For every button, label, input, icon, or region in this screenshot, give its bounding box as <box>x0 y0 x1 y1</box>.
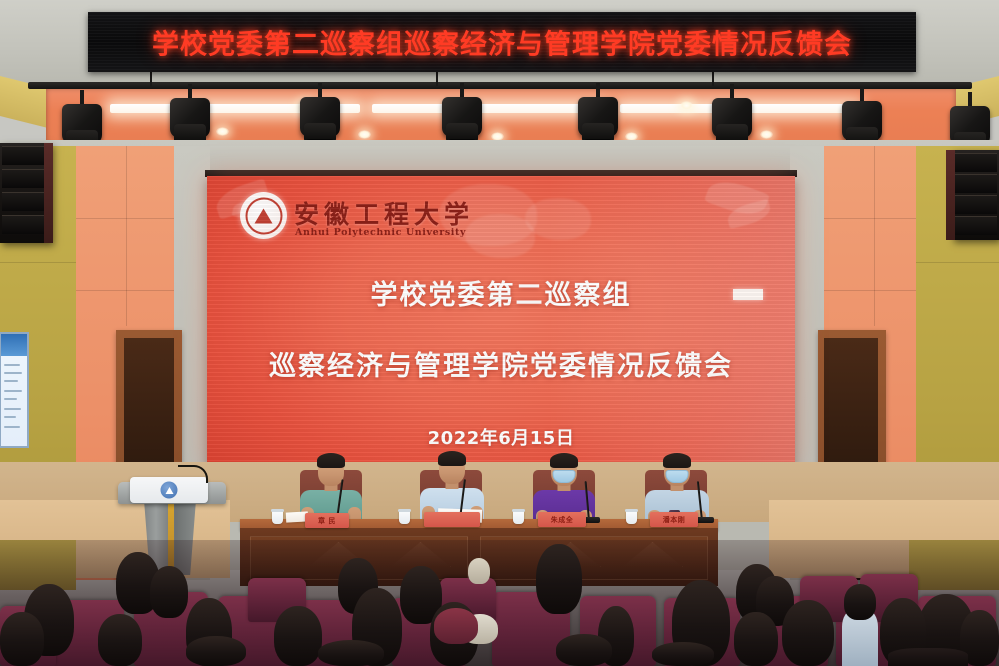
led-banner-text: 学校党委第二巡察组巡察经济与管理学院党委情况反馈会 <box>88 23 916 62</box>
panel-seam <box>126 146 127 326</box>
screen-title-line2: 巡察经济与管理学院党委情况反馈会 <box>207 344 795 383</box>
water-cup[interactable] <box>626 511 637 524</box>
cup-lid <box>625 509 638 512</box>
audience-head-foreground <box>186 636 246 666</box>
speaker-driver-cell <box>954 195 997 214</box>
panel-seam <box>916 262 999 263</box>
speaker-driver-cell <box>954 216 997 235</box>
notice-text-line <box>4 380 18 382</box>
audience-head-light <box>468 558 490 584</box>
speaker-mount-bracket <box>44 143 53 243</box>
audience-head-foreground <box>318 640 384 666</box>
panel-seam <box>824 290 916 291</box>
recessed-downlight <box>680 101 693 110</box>
screen-glitch-block <box>733 289 763 300</box>
university-emblem-icon <box>240 192 287 239</box>
screen-logo-chinese: 安徽工程大学 <box>294 195 474 231</box>
notice-text-line <box>4 408 21 410</box>
conference-hall-photo: 安徽工程大学 Anhui Polytechnic University 学校党委… <box>0 0 999 666</box>
notice-text-line <box>4 426 20 428</box>
audience-head <box>0 612 44 666</box>
podium-crest-icon <box>161 482 178 499</box>
notice-text-line <box>4 416 16 418</box>
speaker-driver-cell <box>2 169 50 188</box>
panelist-3-face-mask <box>553 470 576 483</box>
notice-text-line <box>4 390 22 392</box>
panel-seam <box>76 290 174 291</box>
nameplate-panelist-4: 潘本刚 <box>650 512 698 527</box>
water-cup[interactable] <box>513 511 524 524</box>
speaker-driver-cell <box>954 174 997 193</box>
audience-head <box>536 544 582 614</box>
speaker-driver-cell <box>2 192 50 211</box>
audience-head <box>150 566 188 618</box>
audience-head-foreground <box>652 642 714 666</box>
audience-head <box>844 584 876 620</box>
notice-text-line <box>4 372 22 374</box>
audience-head <box>734 612 778 666</box>
peony-watermark <box>525 198 591 240</box>
cup-lid <box>512 509 525 512</box>
line-array-speaker-right <box>952 150 999 240</box>
panelist-3-hair <box>550 453 578 468</box>
recessed-downlight <box>358 130 371 139</box>
audience-head-foreground <box>556 634 612 666</box>
speaker-driver-cell <box>2 146 50 165</box>
audience-head <box>98 614 142 666</box>
recessed-downlight <box>216 127 229 136</box>
screen-date: 2022年6月15日 <box>207 424 795 450</box>
panel-seam <box>0 262 76 263</box>
nameplate-panelist-1: 章 民 <box>305 513 349 528</box>
led-stage-screen: 安徽工程大学 Anhui Polytechnic University 学校党委… <box>207 176 795 468</box>
power-cable <box>150 70 152 88</box>
cup-lid <box>398 509 411 512</box>
fluorescent-tube-light <box>372 104 608 113</box>
notice-text-line <box>4 364 20 366</box>
water-cup[interactable] <box>272 511 283 524</box>
nameplate-panelist-3: 朱成全 <box>538 512 586 527</box>
panelist-1-hair <box>317 453 345 468</box>
cup-lid <box>271 509 284 512</box>
audience-head-red <box>434 608 478 644</box>
audience-head <box>782 600 834 666</box>
emblem-inner-ring <box>245 197 282 234</box>
notice-board[interactable] <box>0 332 29 448</box>
panelist-2-hair <box>438 451 466 466</box>
notice-board-header <box>1 334 27 356</box>
emblem-triangle-icon <box>255 208 273 223</box>
lighting-truss <box>28 82 972 89</box>
audience-head <box>274 606 322 666</box>
speaker-mount-bracket <box>946 150 955 240</box>
screen-logo-english: Anhui Polytechnic University <box>295 227 466 238</box>
speaker-driver-cell <box>954 153 997 172</box>
water-cup[interactable] <box>399 511 410 524</box>
recessed-downlight <box>760 130 773 139</box>
panelist-4-face-mask <box>666 470 689 483</box>
panel-seam <box>874 146 875 326</box>
panelist-4-hair <box>663 453 691 468</box>
notice-text-line <box>4 398 17 400</box>
screen-title-line1: 学校党委第二巡察组 <box>207 273 795 312</box>
panel-seam <box>76 218 174 219</box>
speaker-driver-cell <box>2 215 50 234</box>
panel-seam <box>824 218 916 219</box>
nameplate-panelist-2 <box>424 512 480 527</box>
led-banner: 学校党委第二巡察组巡察经济与管理学院党委情况反馈会 <box>88 12 916 72</box>
audience-shoulder-foreground <box>888 648 968 666</box>
